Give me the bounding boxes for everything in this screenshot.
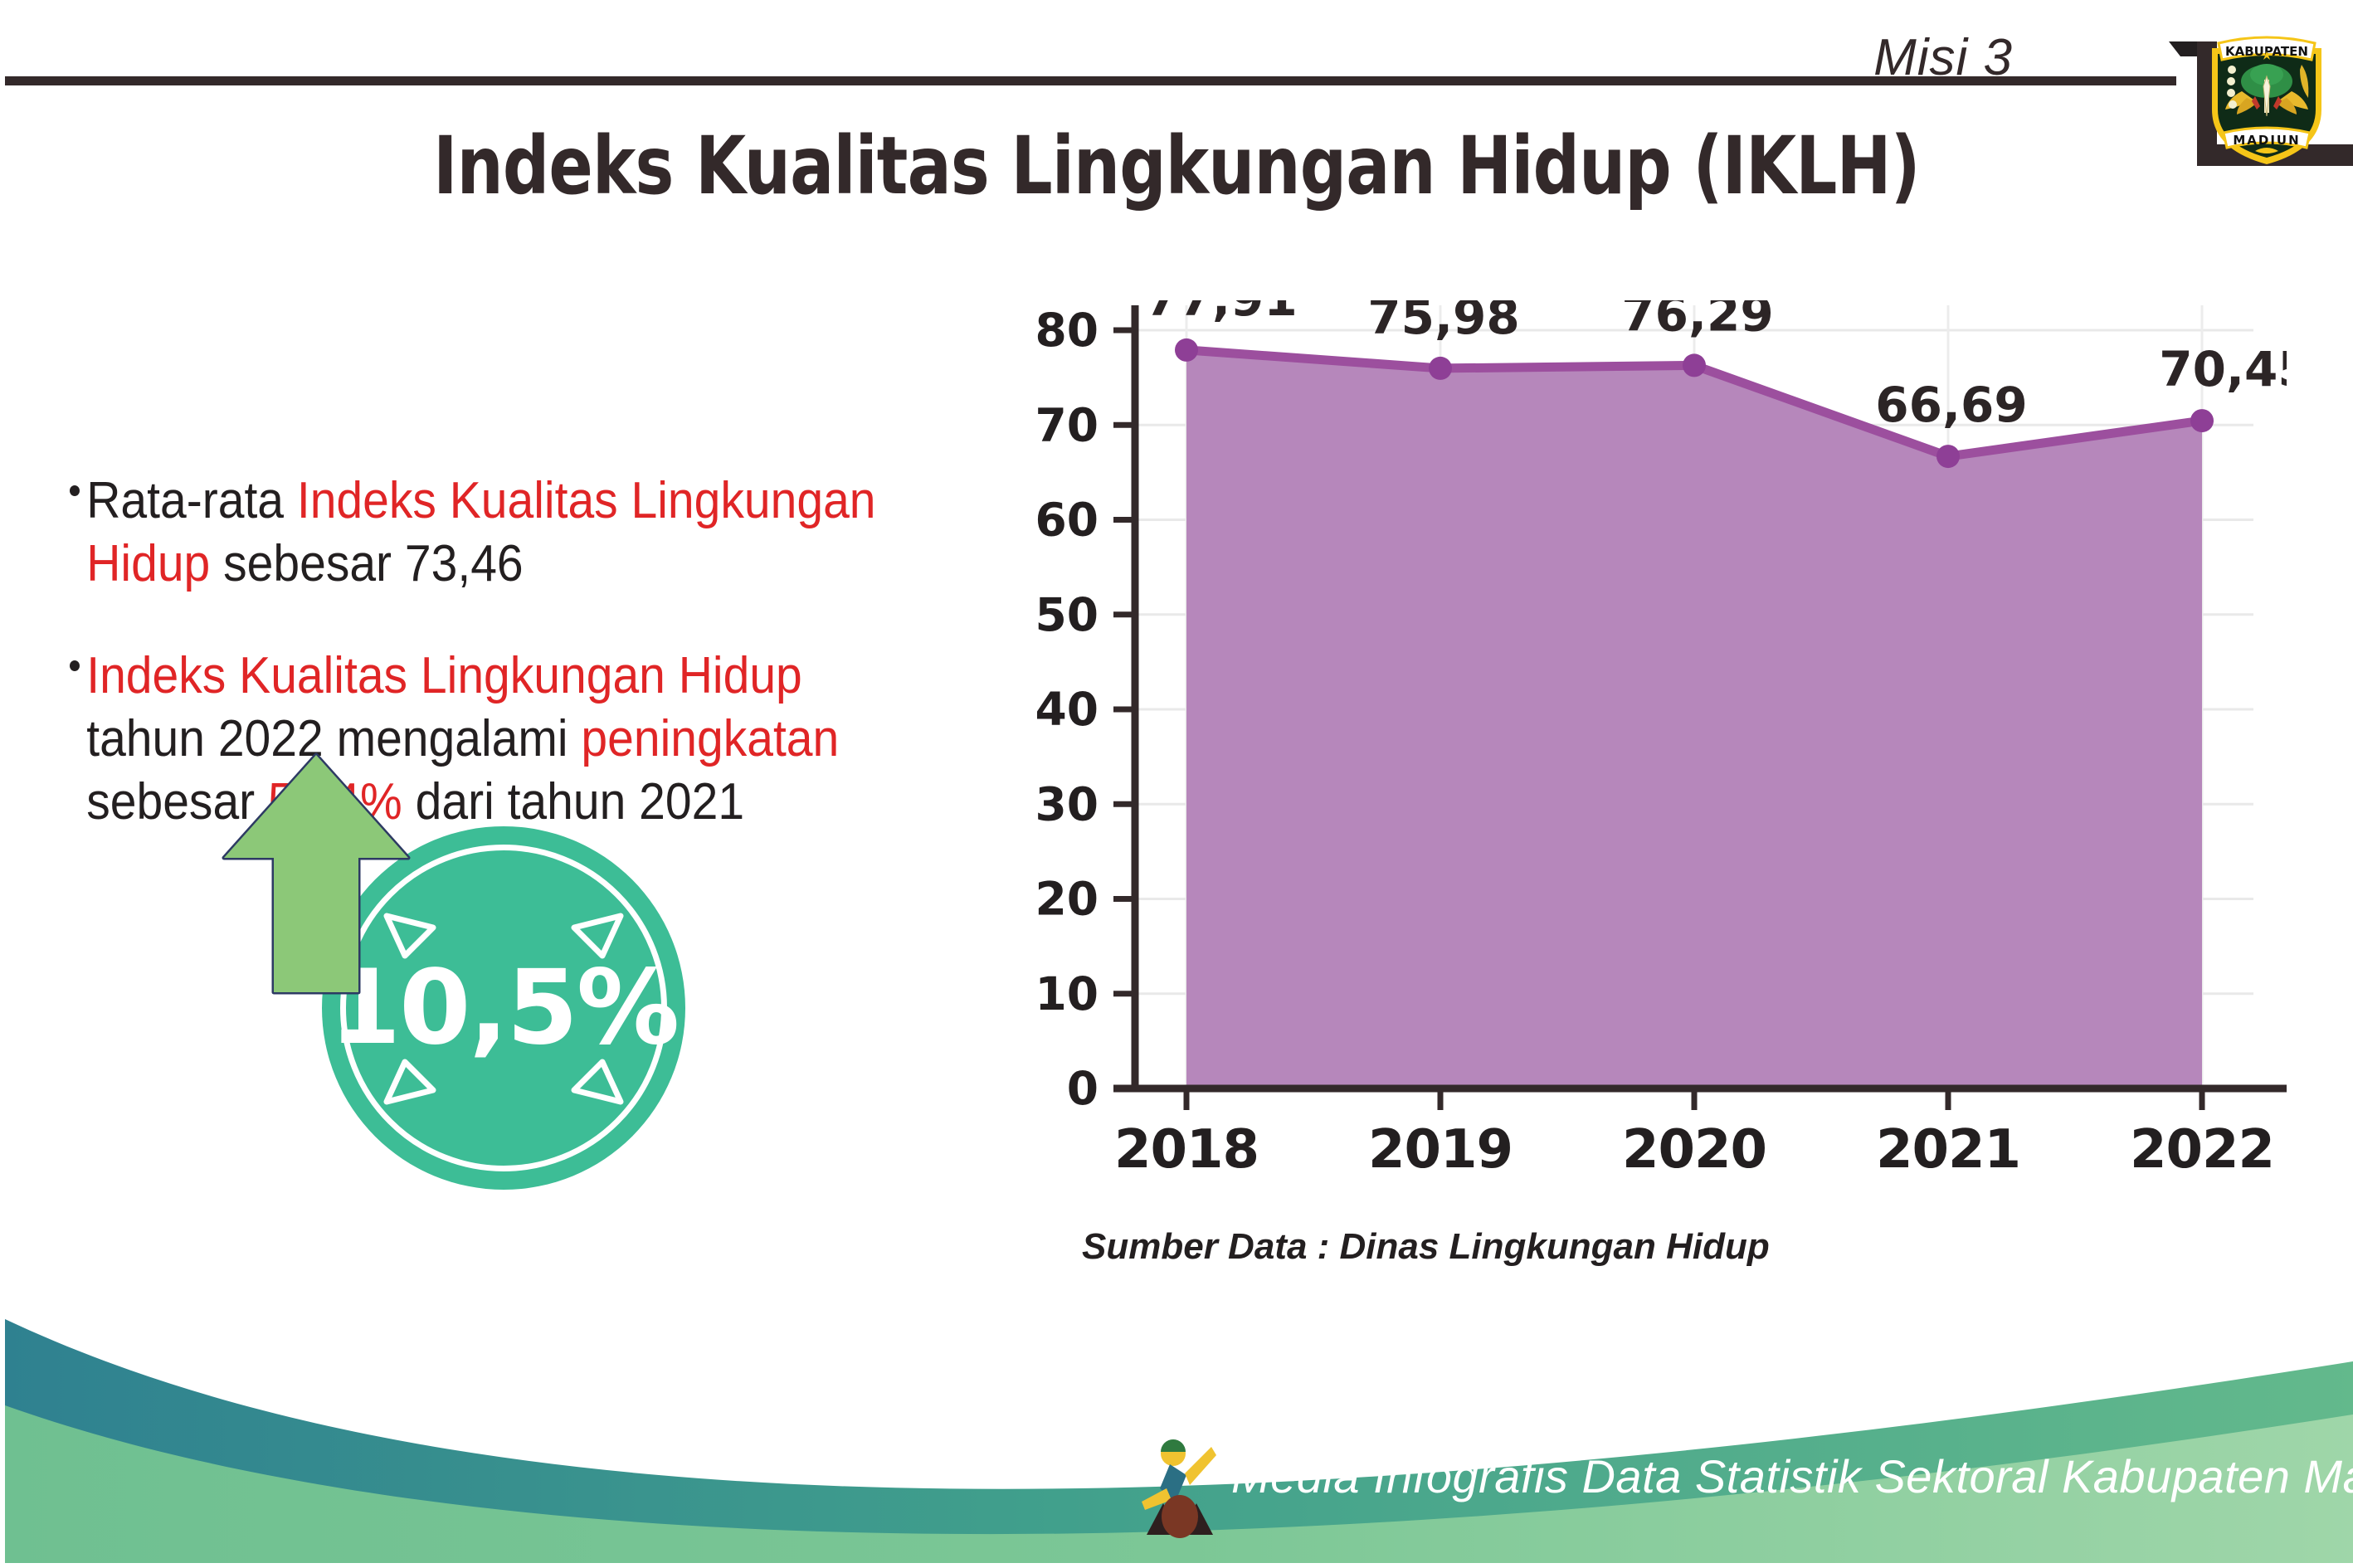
data-label: 66,69: [1875, 377, 2027, 433]
chart-y-tick-labels: 01020304050607080: [1035, 304, 1099, 1115]
data-label: 77,91: [1145, 300, 1297, 327]
header-rule: [5, 76, 2176, 85]
up-arrow-icon: [219, 752, 413, 996]
footer-caption: Media Infografis Data Statistik Sektoral…: [1231, 1449, 2353, 1503]
x-tick-label: 2020: [1622, 1119, 1766, 1180]
iklh-area-chart: 01020304050607080 20182019202020212022 7…: [959, 300, 2287, 1180]
x-tick-label: 2021: [1876, 1119, 2020, 1180]
x-tick-label: 2018: [1114, 1119, 1259, 1180]
y-tick-label: 40: [1035, 683, 1099, 736]
data-label: 75,98: [1367, 300, 1519, 345]
page-title: Indeks Kualitas Lingkungan Hidup (IKLH): [216, 119, 2137, 212]
infographic-page: Misi 3 KABUPATEN MADIUN Indeks Kualitas …: [0, 0, 2353, 1568]
list-item: Indeks Kualitas Lingkungan Hidup tahun 2…: [70, 645, 902, 833]
chart-area-series: [1175, 338, 2214, 1088]
bullet-text-run: peningkatan: [581, 710, 839, 767]
chart-x-tick-labels: 20182019202020212022: [1114, 1119, 2274, 1180]
source-note: Sumber Data : Dinas Lingkungan Hidup: [1082, 1226, 1770, 1268]
y-tick-label: 0: [1067, 1062, 1099, 1115]
kabupaten-madiun-emblem-icon: KABUPATEN MADIUN: [2204, 27, 2330, 166]
data-label: 76,29: [1621, 300, 1773, 342]
footer-band: Media Infografis Data Statistik Sektoral…: [5, 1289, 2353, 1563]
x-tick-label: 2022: [2130, 1119, 2274, 1180]
bullet-text-0: Rata-rata Indeks Kualitas Lingkungan Hid…: [70, 470, 902, 595]
svg-text:MADIUN: MADIUN: [2233, 133, 2300, 148]
bullet-list: Rata-rata Indeks Kualitas Lingkungan Hid…: [70, 470, 974, 883]
misi-label: Misi 3: [1873, 28, 2013, 87]
y-tick-label: 50: [1035, 588, 1099, 641]
bullet-text-run: Indeks Kualitas Lingkungan Hidup: [86, 647, 802, 704]
y-tick-label: 10: [1035, 967, 1099, 1020]
bullet-dot-icon: [70, 485, 80, 496]
data-label: 70,45: [2159, 341, 2287, 397]
bullet-text-run: sebesar 73,46: [210, 535, 523, 592]
bullet-text-run: Rata-rata: [86, 472, 297, 529]
y-tick-label: 70: [1035, 398, 1099, 451]
chart-canvas: 01020304050607080 20182019202020212022 7…: [959, 300, 2287, 1180]
bullet-dot-icon: [70, 660, 80, 671]
bullet-text-run: dari tahun 2021: [402, 773, 744, 830]
dancer-figure-icon: [1138, 1437, 1218, 1538]
y-tick-label: 60: [1035, 494, 1099, 547]
x-tick-label: 2019: [1368, 1119, 1513, 1180]
list-item: Rata-rata Indeks Kualitas Lingkungan Hid…: [70, 470, 902, 595]
y-tick-label: 30: [1035, 777, 1099, 830]
y-tick-label: 20: [1035, 873, 1099, 926]
bullet-text-1: Indeks Kualitas Lingkungan Hidup tahun 2…: [70, 645, 902, 833]
y-tick-label: 80: [1035, 304, 1099, 357]
